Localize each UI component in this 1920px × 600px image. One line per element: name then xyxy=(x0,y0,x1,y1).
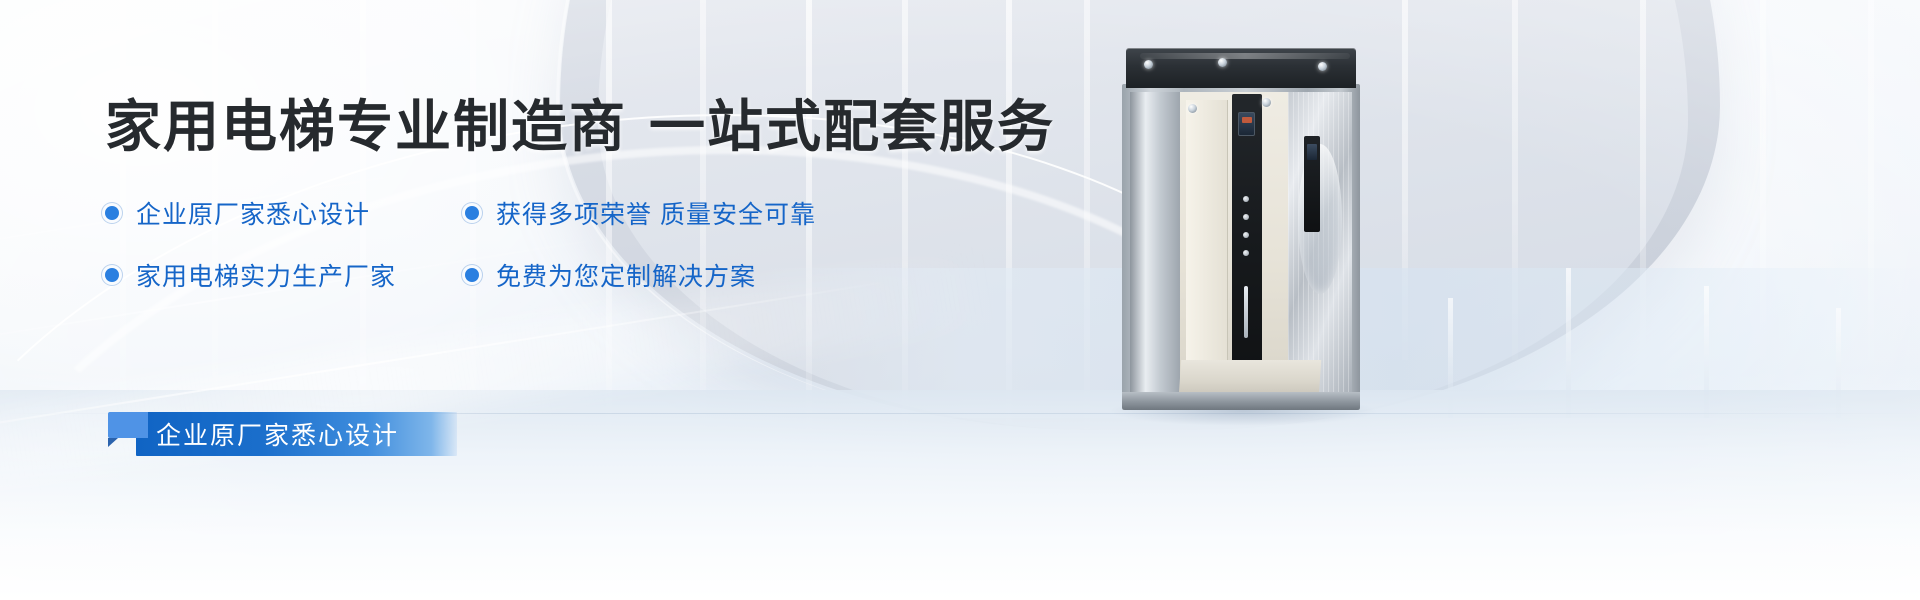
elevator-secondary-display xyxy=(1307,144,1317,160)
headline-part-1: 家用电梯专业制造商 xyxy=(105,95,627,158)
headline-part-2: 一站式配套服务 xyxy=(649,95,1055,158)
bullet-dot-icon xyxy=(465,206,479,220)
feature-list: 企业原厂家悉心设计 获得多项荣誉 质量安全可靠 家用电梯实力生产厂家 免费为您定… xyxy=(105,195,1085,293)
elevator-ceiling-light-2 xyxy=(1188,104,1197,113)
feature-item-3: 家用电梯实力生产厂家 xyxy=(105,257,465,293)
bullet-dot-icon xyxy=(465,268,479,282)
elevator-display-screen xyxy=(1238,112,1255,136)
ribbon-tab-icon xyxy=(108,412,148,438)
elevator-canopy-light-1 xyxy=(1144,60,1153,69)
elevator-base xyxy=(1122,392,1360,410)
bullet-dot-icon xyxy=(105,268,119,282)
elevator-cabin-floor xyxy=(1179,360,1322,396)
elevator-left-pillar xyxy=(1130,92,1182,392)
elevator-ceiling-light-1 xyxy=(1262,98,1271,107)
background-scene xyxy=(0,0,1920,600)
feature-item-2: 获得多项荣誉 质量安全可靠 xyxy=(465,195,1085,231)
elevator-canopy-light-2 xyxy=(1218,58,1227,67)
feature-label: 获得多项荣誉 质量安全可靠 xyxy=(496,195,816,231)
elevator-control-column xyxy=(1232,94,1262,382)
feature-item-4: 免费为您定制解决方案 xyxy=(465,257,1085,293)
product-image-elevator xyxy=(1122,48,1360,410)
highlight-ribbon[interactable]: 企业原厂家悉心设计 xyxy=(108,412,457,456)
promo-banner: 家用电梯专业制造商一站式配套服务 企业原厂家悉心设计 获得多项荣誉 质量安全可靠… xyxy=(0,0,1920,600)
feature-item-1: 企业原厂家悉心设计 xyxy=(105,195,465,231)
ribbon-body: 企业原厂家悉心设计 xyxy=(136,412,457,456)
elevator-cabin-panel xyxy=(1186,100,1228,360)
elevator-handle-strip xyxy=(1244,286,1248,338)
ribbon-label: 企业原厂家悉心设计 xyxy=(156,416,399,452)
page-title: 家用电梯专业制造商一站式配套服务 xyxy=(105,96,1085,159)
feature-label: 免费为您定制解决方案 xyxy=(496,257,756,293)
banner-copy: 家用电梯专业制造商一站式配套服务 企业原厂家悉心设计 获得多项荣誉 质量安全可靠… xyxy=(105,96,1085,293)
feature-label: 家用电梯实力生产厂家 xyxy=(136,257,396,293)
elevator-canopy-highlight xyxy=(1140,53,1350,59)
feature-label: 企业原厂家悉心设计 xyxy=(136,195,370,231)
bullet-dot-icon xyxy=(105,206,119,220)
vignette-overlay xyxy=(0,0,1920,600)
elevator-canopy-light-3 xyxy=(1318,62,1327,71)
